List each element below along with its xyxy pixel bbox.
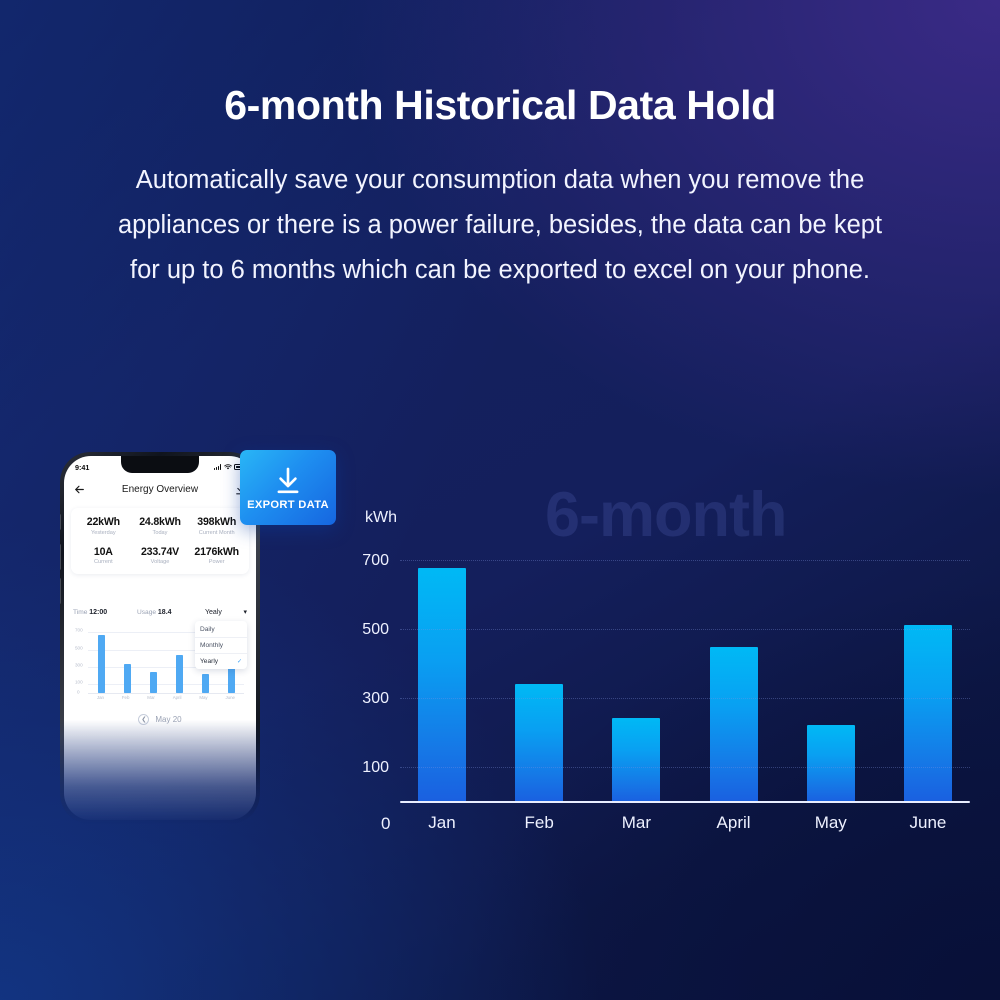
x-axis-tick-label: Mar bbox=[612, 813, 660, 833]
date-label: May 20 bbox=[155, 715, 181, 724]
dropdown-option-yearly[interactable]: Yearly ✓ bbox=[195, 653, 247, 669]
phone-y-axis-zero-label: 0 bbox=[77, 690, 80, 695]
period-select[interactable]: Yealy ▾ bbox=[201, 608, 247, 616]
stat-current: 10A Current bbox=[75, 546, 132, 566]
x-axis-tick-label: May bbox=[807, 813, 855, 833]
phone-x-axis-tick-label: Jan bbox=[97, 695, 104, 706]
phone-mockup: 9:41 Energy Overview bbox=[60, 452, 260, 842]
stat-label: Voltage bbox=[132, 559, 189, 565]
stat-label: Current Month bbox=[188, 530, 245, 536]
chart-gridline: 100 bbox=[400, 767, 970, 768]
option-label: Yearly bbox=[200, 658, 218, 665]
check-icon: ✓ bbox=[237, 658, 242, 665]
stat-power: 2176kWh Power bbox=[188, 546, 245, 566]
stats-row-1: 22kWh Yesterday 24.8kWh Today 398kWh Cur… bbox=[75, 516, 245, 536]
stats-card: 22kWh Yesterday 24.8kWh Today 398kWh Cur… bbox=[71, 508, 249, 574]
signal-icon bbox=[214, 464, 221, 470]
description-line-1: Automatically save your consumption data… bbox=[20, 158, 980, 203]
option-label: Monthly bbox=[200, 642, 223, 649]
phone-chart-bar bbox=[176, 655, 183, 693]
stat-today: 24.8kWh Today bbox=[132, 516, 189, 536]
period-selected-label: Yealy bbox=[205, 609, 222, 616]
usage-value: 18.4 bbox=[158, 609, 172, 616]
chart-gridline: 700 bbox=[400, 560, 970, 561]
description-line-3: for up to 6 months which can be exported… bbox=[20, 248, 980, 293]
stat-current-month: 398kWh Current Month bbox=[188, 516, 245, 536]
back-arrow-icon[interactable] bbox=[73, 483, 86, 496]
chart-gridline: 500 bbox=[400, 629, 970, 630]
stat-value: 10A bbox=[75, 546, 132, 558]
phone-chart-bar bbox=[124, 664, 131, 694]
page-title: 6-month Historical Data Hold bbox=[0, 82, 1000, 129]
chart-gridline: 300 bbox=[400, 698, 970, 699]
y-axis-zero-label: 0 bbox=[381, 814, 390, 834]
app-header-bar: Energy Overview bbox=[64, 478, 256, 500]
stat-label: Yesterday bbox=[75, 530, 132, 536]
phone-chart-x-labels: JanFebMarAprilMayJune bbox=[88, 695, 244, 706]
x-axis-line bbox=[400, 801, 970, 803]
chevron-left-icon[interactable]: ❮ bbox=[138, 714, 149, 725]
wifi-icon bbox=[224, 464, 232, 470]
chart-bar bbox=[612, 718, 660, 803]
stat-label: Today bbox=[132, 530, 189, 536]
chart-bars bbox=[400, 540, 970, 803]
phone-chart-bar bbox=[98, 635, 105, 693]
stat-value: 398kWh bbox=[188, 516, 245, 528]
export-data-badge[interactable]: EXPORT DATA bbox=[240, 450, 336, 525]
phone-screen: 9:41 Energy Overview bbox=[64, 456, 256, 820]
time-label: Time bbox=[73, 609, 87, 616]
x-axis-tick-label: April bbox=[710, 813, 758, 833]
stat-value: 2176kWh bbox=[188, 546, 245, 558]
x-axis-tick-label: Feb bbox=[515, 813, 563, 833]
stat-voltage: 233.74V Voltage bbox=[132, 546, 189, 566]
phone-chart-bar bbox=[202, 674, 209, 693]
chart-bar bbox=[807, 725, 855, 803]
phone-x-axis-tick-label: April bbox=[173, 695, 182, 706]
page-description: Automatically save your consumption data… bbox=[20, 158, 980, 293]
phone-x-axis-tick-label: Feb bbox=[122, 695, 130, 706]
dropdown-option-daily[interactable]: Daily bbox=[195, 621, 247, 637]
phone-y-axis-tick-label: 300 bbox=[75, 662, 83, 667]
time-readout: Time 12:00 bbox=[73, 609, 137, 616]
status-time: 9:41 bbox=[75, 463, 89, 472]
description-line-2: appliances or there is a power failure, … bbox=[20, 203, 980, 248]
stat-value: 233.74V bbox=[132, 546, 189, 558]
phone-status-bar: 9:41 bbox=[64, 460, 256, 474]
chart-bar bbox=[710, 647, 758, 803]
y-axis-tick-label: 300 bbox=[362, 690, 389, 708]
dropdown-option-monthly[interactable]: Monthly bbox=[195, 637, 247, 653]
y-axis-tick-label: 500 bbox=[362, 621, 389, 639]
time-value: 12:00 bbox=[89, 609, 107, 616]
y-axis-unit-label: kWh bbox=[365, 509, 397, 527]
phone-x-axis-tick-label: May bbox=[199, 695, 207, 706]
export-data-label: EXPORT DATA bbox=[247, 499, 329, 511]
usage-summary-row: Time 12:00 Usage 18.4 Yealy ▾ bbox=[73, 608, 247, 616]
app-screen-title: Energy Overview bbox=[86, 484, 234, 495]
phone-y-axis-tick-label: 500 bbox=[75, 645, 83, 650]
chart-x-axis-labels: JanFebMarAprilMayJune bbox=[400, 808, 970, 838]
stat-yesterday: 22kWh Yesterday bbox=[75, 516, 132, 536]
main-bar-chart: kWh 700500300100 0 JanFebMarAprilMayJune bbox=[355, 500, 980, 840]
x-axis-tick-label: Jan bbox=[418, 813, 466, 833]
period-dropdown-menu[interactable]: Daily Monthly Yearly ✓ bbox=[195, 621, 247, 669]
phone-y-axis-tick-label: 700 bbox=[75, 628, 83, 633]
download-icon bbox=[272, 465, 304, 498]
phone-chart-bar bbox=[150, 672, 157, 693]
stat-label: Power bbox=[188, 559, 245, 565]
chart-bar bbox=[515, 684, 563, 803]
y-axis-tick-label: 100 bbox=[362, 759, 389, 777]
stat-value: 24.8kWh bbox=[132, 516, 189, 528]
date-navigator: ❮ May 20 bbox=[64, 714, 256, 725]
chart-plot-area: 700500300100 bbox=[400, 540, 970, 803]
y-axis-tick-label: 700 bbox=[362, 552, 389, 570]
option-label: Daily bbox=[200, 626, 215, 633]
phone-frame: 9:41 Energy Overview bbox=[60, 452, 260, 824]
stats-row-2: 10A Current 233.74V Voltage 2176kWh Powe… bbox=[75, 546, 245, 566]
chart-bar bbox=[904, 625, 952, 803]
stat-label: Current bbox=[75, 559, 132, 565]
chevron-down-icon: ▾ bbox=[243, 608, 247, 616]
phone-x-axis-tick-label: Mar bbox=[147, 695, 155, 706]
usage-label: Usage bbox=[137, 609, 156, 616]
stat-value: 22kWh bbox=[75, 516, 132, 528]
phone-x-axis-tick-label: June bbox=[225, 695, 235, 706]
usage-readout: Usage 18.4 bbox=[137, 609, 201, 616]
phone-y-axis-tick-label: 100 bbox=[75, 680, 83, 685]
x-axis-tick-label: June bbox=[904, 813, 952, 833]
